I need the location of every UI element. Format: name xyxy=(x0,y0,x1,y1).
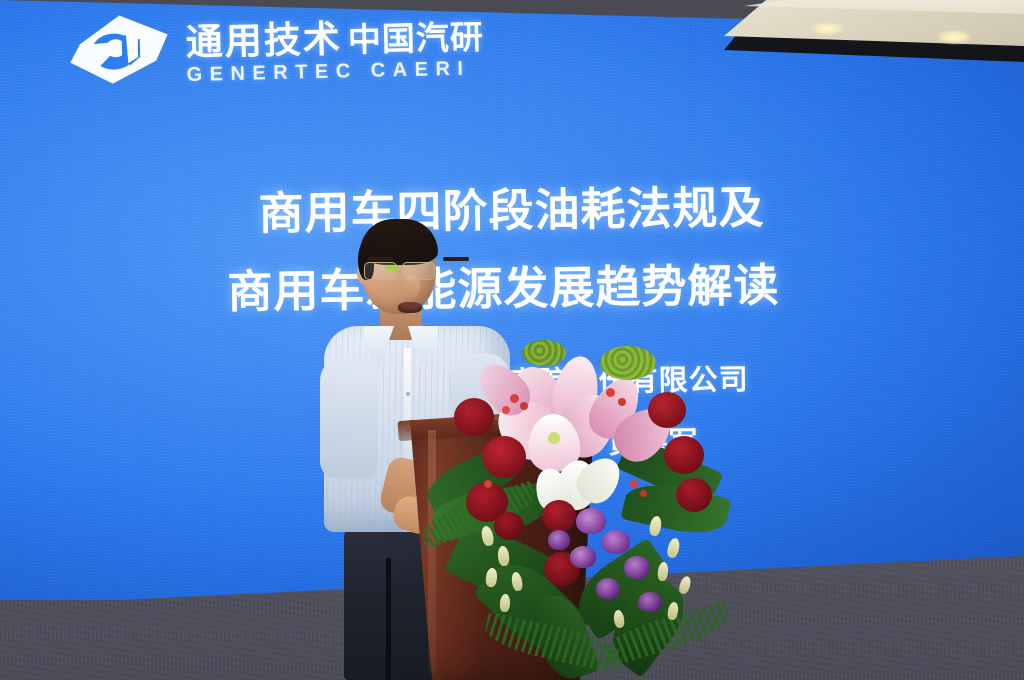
shirt-sleeve-left xyxy=(320,358,378,478)
purple-orchid xyxy=(570,546,596,568)
red-berry xyxy=(618,398,626,406)
lily-center xyxy=(548,432,560,444)
red-rose xyxy=(648,392,686,428)
purple-orchid xyxy=(624,556,650,579)
red-berry xyxy=(510,394,519,403)
red-berry xyxy=(520,402,528,410)
trouser-seam xyxy=(386,558,391,680)
conference-photo-scene: 通用技术中国汽研 GENERTEC CAERI 商用车四阶段油耗法规及 商用车新… xyxy=(0,0,1024,680)
presenter-mouth xyxy=(398,302,422,313)
genertec-caeri-diamond-logo xyxy=(63,12,177,87)
purple-orchid xyxy=(638,592,662,612)
red-rose xyxy=(482,436,526,478)
purple-orchid xyxy=(596,578,620,599)
presenter-eyebrow xyxy=(367,257,393,261)
flower-bud xyxy=(657,562,669,582)
red-berry xyxy=(502,406,510,414)
purple-orchid xyxy=(576,508,606,534)
recessed-downlight xyxy=(936,30,972,44)
shirt-button xyxy=(406,392,410,396)
red-rose xyxy=(494,512,524,540)
red-rose xyxy=(454,398,494,436)
red-rose xyxy=(664,436,704,474)
flower-bud xyxy=(666,537,682,559)
presenter-glasses xyxy=(364,262,440,279)
red-berry xyxy=(630,480,638,488)
logo-chinese-text: 通用技术中国汽研 xyxy=(185,17,484,61)
green-filler xyxy=(600,346,656,380)
purple-orchid xyxy=(602,530,630,554)
red-rose xyxy=(542,500,576,532)
red-berry xyxy=(484,480,492,488)
glasses-lens-right xyxy=(402,262,435,280)
recessed-downlight xyxy=(810,22,844,35)
brand-logo: 通用技术中国汽研 GENERTEC CAERI xyxy=(63,5,485,91)
green-filler xyxy=(522,340,566,366)
red-rose xyxy=(676,478,712,512)
presenter-eyebrow xyxy=(443,257,469,261)
flower-bud xyxy=(677,575,692,595)
glasses-reflection xyxy=(386,265,398,271)
purple-orchid xyxy=(548,530,570,550)
red-berry xyxy=(606,388,615,397)
red-berry xyxy=(640,490,647,497)
floral-arrangement xyxy=(424,340,724,670)
logo-text-block: 通用技术中国汽研 GENERTEC CAERI xyxy=(185,5,485,88)
